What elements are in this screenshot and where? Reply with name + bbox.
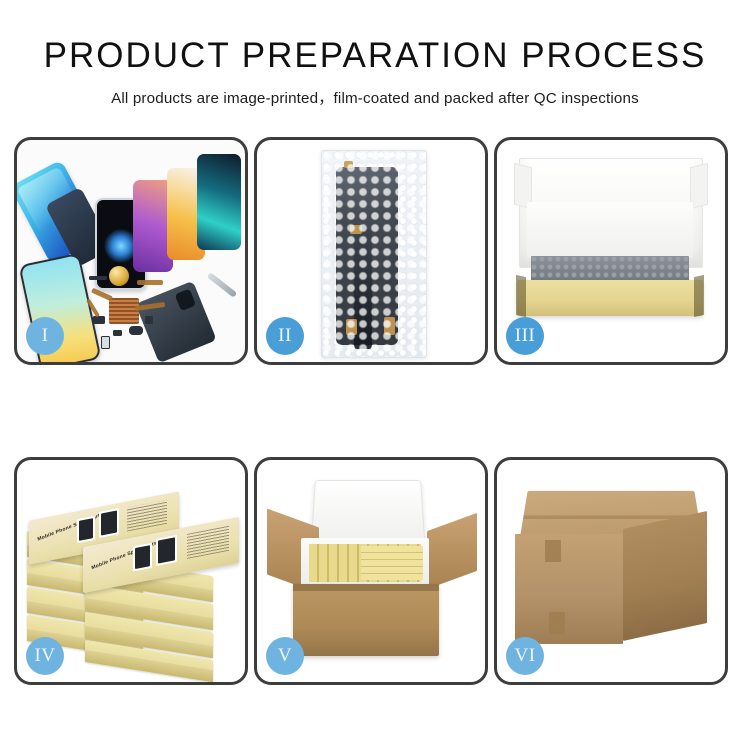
white-foam-sheet — [527, 202, 693, 258]
step-badge-4: IV — [26, 637, 64, 675]
step-badge-1: I — [26, 317, 64, 355]
step-badge-5: V — [266, 637, 304, 675]
copper-shield-part — [109, 298, 139, 324]
yellow-boxes-row — [361, 546, 423, 580]
box-window — [99, 508, 119, 538]
carton-flap-right — [427, 513, 477, 589]
chip-part — [145, 316, 153, 324]
step-panel-5[interactable]: V — [254, 457, 488, 685]
foam-lid — [311, 480, 425, 542]
bubble-texture — [322, 151, 426, 357]
carton-tape — [549, 612, 565, 634]
flex-cable — [137, 280, 163, 285]
step-panel-1[interactable]: I — [14, 137, 248, 365]
bubble-wrap-bag — [321, 150, 427, 358]
chip-part — [113, 330, 122, 336]
step-badge-3: III — [506, 317, 544, 355]
step-badge-2: II — [266, 317, 304, 355]
step-panel-4[interactable]: Mobile Phone Spare Parts Mobile Phone Sp… — [14, 457, 248, 685]
page-title: PRODUCT PREPARATION PROCESS — [0, 38, 750, 75]
chip-part — [89, 276, 107, 280]
carton-front — [293, 584, 439, 656]
carton-tape — [545, 540, 561, 562]
carton-side — [623, 511, 707, 641]
inner-box-front — [517, 280, 703, 316]
chip-part — [129, 326, 143, 335]
product-preparation-infographic: PRODUCT PREPARATION PROCESS All products… — [0, 0, 750, 750]
phone-teal — [197, 154, 241, 250]
box-window — [156, 535, 177, 566]
page-subtitle: All products are image-printed，film-coat… — [0, 86, 750, 108]
box-window — [77, 516, 95, 543]
speaker-coil-icon — [109, 266, 129, 286]
step-panel-3[interactable]: III — [494, 137, 728, 365]
screwdriver-icon — [207, 272, 237, 298]
step-panel-2[interactable]: II — [254, 137, 488, 365]
chip-part — [93, 316, 105, 324]
carton-front — [515, 534, 623, 644]
header: PRODUCT PREPARATION PROCESS All products… — [0, 0, 750, 108]
box-window — [133, 543, 152, 572]
box-print-lines — [127, 500, 167, 532]
process-steps-grid: I II — [14, 137, 736, 685]
step-badge-6: VI — [506, 637, 544, 675]
chip-part — [101, 336, 110, 349]
step-panel-6[interactable]: VI — [494, 457, 728, 685]
box-print-lines — [187, 526, 229, 559]
